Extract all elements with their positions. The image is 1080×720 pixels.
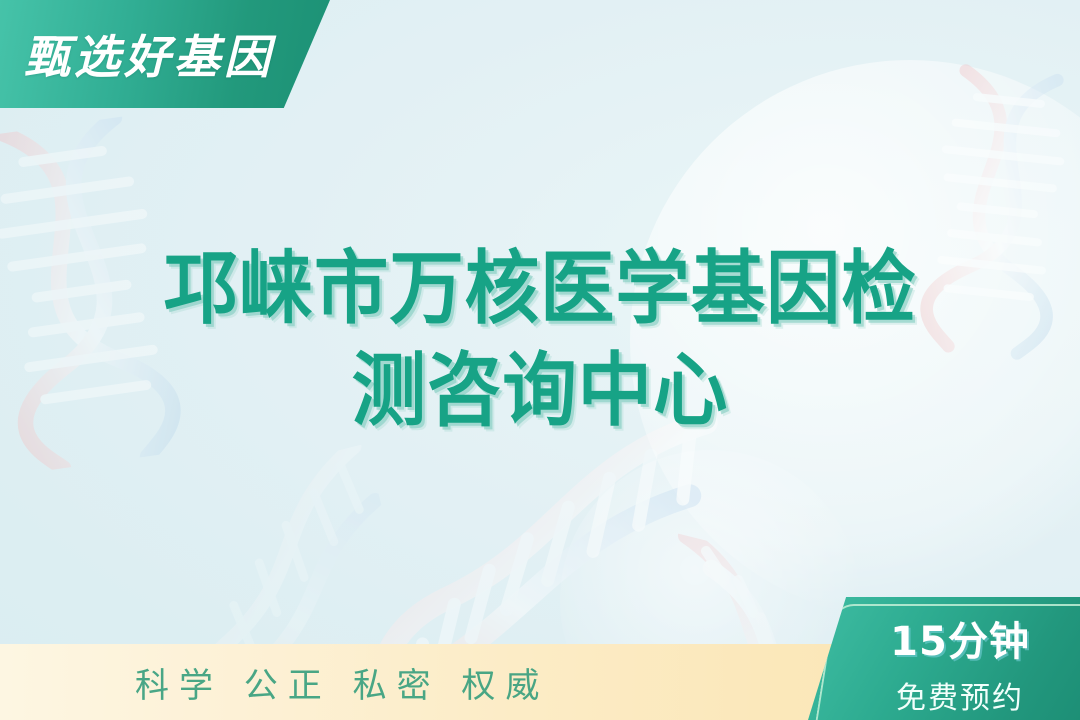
dna-helix-icon-top-right bbox=[890, 59, 1080, 371]
brand-ribbon-badge: 甄选好基因 bbox=[0, 0, 330, 108]
free-appointment-cta[interactable]: 15分钟 免费预约 bbox=[808, 597, 1080, 720]
background-glow-circle-right bbox=[630, 60, 1080, 620]
page-title: 邛崃市万核医学基因检 测咨询中心 bbox=[0, 238, 1080, 443]
brand-ribbon-label: 甄选好基因 bbox=[24, 21, 274, 87]
page-title-line-2: 测咨询中心 bbox=[38, 340, 1042, 442]
banner-canvas: 甄选好基因 邛崃市万核医学基因检 测咨询中心 科学 公正 私密 权威 15分钟 … bbox=[0, 0, 1080, 720]
cta-subtitle-label: 免费预约 bbox=[850, 673, 1070, 717]
cta-text-group: 15分钟 免费预约 bbox=[850, 609, 1070, 717]
dna-helix-icon-left bbox=[0, 101, 282, 479]
slogan-text: 科学 公正 私密 权威 bbox=[135, 658, 549, 707]
page-title-line-1: 邛崃市万核医学基因检 bbox=[38, 238, 1042, 340]
cta-duration-label: 15分钟 bbox=[850, 609, 1070, 667]
